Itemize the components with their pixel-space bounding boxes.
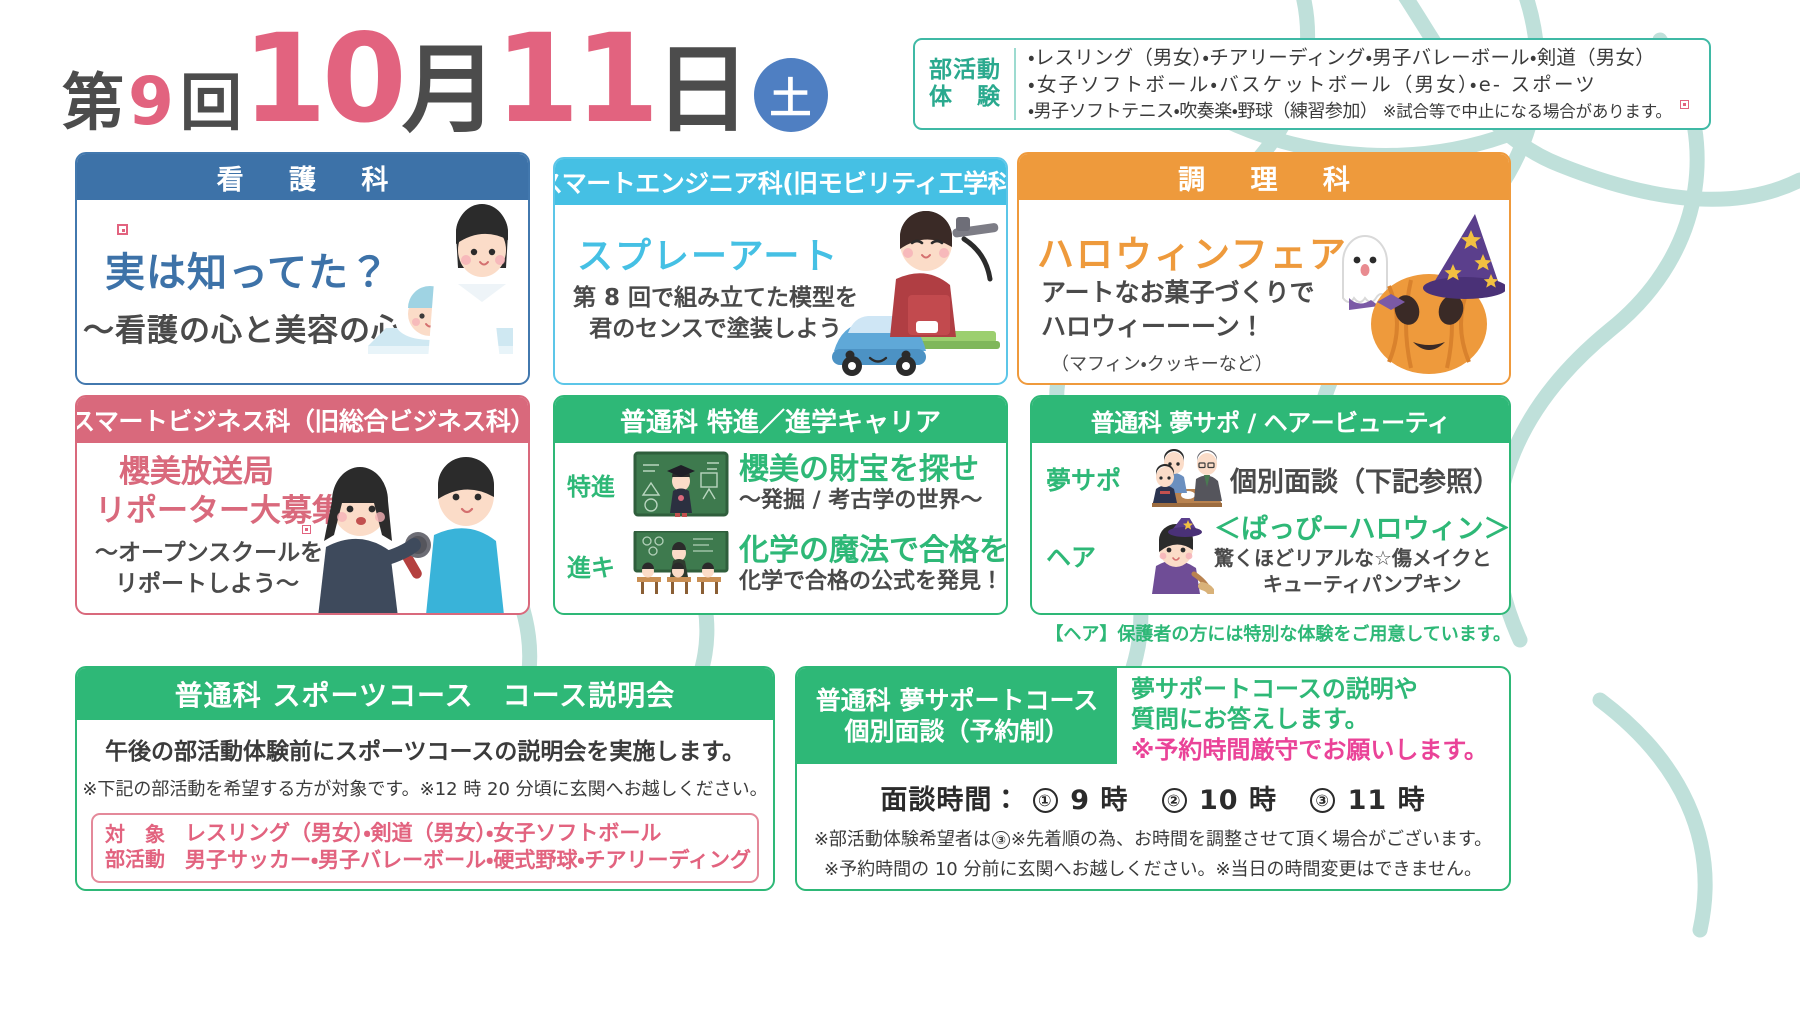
club-line-1: ・レスリング（男女）・チアリーディング・男子バレーボール・剣道（男女） — [1028, 44, 1689, 72]
header: 第 9 回 10 月 11 日 土 部活動 体 験 ・レスリング（男女）・チアリ… — [0, 0, 1800, 148]
card-smart-business-title: スマートビジネス科（旧総合ビジネス科） — [77, 397, 528, 443]
card-dream-hair-title: 普通科 夢サポ / ヘアービューティ — [1032, 397, 1509, 443]
event-day-number: 11 — [495, 18, 655, 140]
dream-row-1-tag: ヘア — [1046, 538, 1142, 574]
time-slot-3-value: 11 時 — [1348, 785, 1426, 816]
dream-intro-line1: 夢サポートコースの説明や — [1131, 674, 1509, 704]
card-dream-hair-body: 夢サポ — [1032, 443, 1509, 613]
dream-row-1-sub-line2: キューティパンプキン — [1214, 571, 1510, 597]
registered-mark-icon — [117, 224, 128, 235]
times-label: 面談時間： — [880, 785, 1020, 816]
card-smart-engineer[interactable]: スマートエンジニア科(旧モビリティ工学科) スプレーアート 第 8 回で組み立て… — [553, 157, 1008, 385]
dream-row-1-title: ＜ぱっぴーハロウィン＞ — [1214, 515, 1510, 545]
target-line1: レスリング（男女）・剣道（男女）・女子ソフトボール — [185, 820, 751, 847]
sports-target-box: 対 象 部活動 レスリング（男女）・剣道（男女）・女子ソフトボール 男子サッカー… — [91, 813, 759, 883]
dream-interview-header: 普通科 夢サポートコース 個別面談（予約制） 夢サポートコースの説明や 質問にお… — [797, 668, 1509, 764]
dream-row-yumesapo: 夢サポ — [1046, 449, 1500, 509]
card-cooking[interactable]: 調 理 科 ハロウィンフェア アートなお菓子づくりで ハロウィーーーン！ （マフ… — [1017, 152, 1511, 385]
month-unit: 月 — [402, 42, 495, 140]
card-nursing-body: 実は知ってた？ 〜看護の心と美容の心〜 — [77, 200, 528, 383]
interview-meeting-illustration — [1142, 449, 1230, 509]
dream-badge-line1: 普通科 夢サポートコース — [816, 685, 1098, 716]
dream-row-0-tag: 夢サポ — [1046, 461, 1142, 497]
cooking-desc-line1: アートなお菓子づくりで — [1041, 278, 1315, 307]
fine-line1-part-a: ※部活動体験希望者は — [814, 829, 991, 850]
card-nursing-title: 看 護 科 — [77, 154, 528, 200]
career-row-1-title: 化学の魔法で合格を錬成！ — [739, 534, 1008, 568]
sports-target-list: レスリング（男女）・剣道（男女）・女子ソフトボール 男子サッカー・男子バレーボー… — [185, 820, 751, 875]
dream-row-0-main: 個別面談（下記参照） — [1230, 460, 1500, 499]
dream-badge-line2: 個別面談（予約制） — [844, 716, 1069, 747]
club-line-3-text: ・男子ソフトテニス・吹奏楽・野球（練習参加） — [1028, 101, 1377, 122]
club-line-2: ・女子ソフトボール・バスケットボール（男女）・e- スポーツ — [1028, 71, 1689, 99]
career-row-1-sub: 化学で合格の公式を発見！ — [739, 568, 1008, 596]
career-row-0-sub: 〜発掘 / 考古学の世界〜 — [739, 487, 982, 515]
cooking-desc-line2: ハロウィーーーン！ — [1041, 310, 1315, 344]
target-line2: 男子サッカー・男子バレーボール・硬式野球・チアリーディング — [185, 847, 751, 874]
time-slot-3-circle: ③ — [1310, 788, 1335, 813]
dream-intro-line2: 質問にお答えします。 — [1131, 704, 1509, 734]
career-row-0-title: 櫻美の財宝を探せ — [739, 453, 982, 487]
registered-mark-icon — [1680, 100, 1689, 109]
dream-interview-box[interactable]: 普通科 夢サポートコース 個別面談（予約制） 夢サポートコースの説明や 質問にお… — [795, 666, 1511, 891]
edition-suffix: 回 — [180, 72, 242, 140]
club-activity-label: 部活動 体 験 — [929, 57, 1014, 111]
card-cooking-desc: アートなお菓子づくりで ハロウィーーーン！ — [1041, 276, 1315, 344]
card-cooking-headline: ハロウィンフェア — [1037, 224, 1348, 278]
dream-interview-fine-line1: ※部活動体験希望者は③※先着順の為、お時間を調整させて頂く場合がございます。 — [797, 825, 1509, 851]
career-row-tokushin: 特進 — [567, 451, 982, 517]
reporter-interview-illustration — [306, 443, 526, 615]
card-career-title: 普通科 特進／進学キャリア — [555, 397, 1006, 443]
fine-line1-part-b: ※先着順の為、お時間を調整させて頂く場合がございます。 — [1011, 829, 1492, 850]
dream-row-hair: ヘア ＜ぱっぴーハロウィン＞ — [1046, 515, 1510, 597]
card-cooking-body: ハロウィンフェア アートなお菓子づくりで ハロウィーーーン！ （マフィン・クッキ… — [1019, 200, 1509, 383]
sports-target-label: 対 象 部活動 — [105, 822, 175, 873]
club-activity-box: 部活動 体 験 ・レスリング（男女）・チアリーディング・男子バレーボール・剣道（… — [913, 38, 1711, 130]
dream-interview-fine-line2: ※予約時間の 10 分前に玄関へお越しください。※当日の時間変更はできません。 — [797, 855, 1509, 881]
nurse-and-baby-illustration — [338, 196, 528, 385]
card-cooking-title: 調 理 科 — [1019, 154, 1509, 200]
dream-row-1-sub-line1: 驚くほどリアルな☆傷メイクと — [1214, 545, 1510, 571]
card-career-body: 特進 — [555, 443, 1006, 613]
business-desc-line1: 〜オープンスクールを — [95, 540, 323, 566]
card-smart-engineer-body: スプレーアート 第 8 回で組み立てた模型を 君のセンスで塗装しよう — [555, 205, 1006, 383]
edition-number: 9 — [128, 69, 174, 140]
sports-course-line1: 午後の部活動体験前にスポーツコースの説明会を実施します。 — [77, 732, 773, 766]
target-label-line1: 対 象 — [105, 822, 165, 848]
day-of-week-badge: 土 — [754, 58, 828, 132]
club-label-line2: 体 験 — [929, 84, 1001, 111]
card-smart-business[interactable]: スマートビジネス科（旧総合ビジネス科） 櫻美放送局 リポーター大募集 〜オープン… — [75, 395, 530, 615]
club-label-line1: 部活動 — [929, 57, 1001, 84]
sports-course-title: 普通科 スポーツコース コース説明会 — [77, 668, 773, 720]
sports-course-box[interactable]: 普通科 スポーツコース コース説明会 午後の部活動体験前にスポーツコースの説明会… — [75, 666, 775, 891]
flyer-page: 第 9 回 10 月 11 日 土 部活動 体 験 ・レスリング（男女）・チアリ… — [0, 0, 1800, 1035]
pumpkin-ghost-illustration — [1325, 206, 1505, 381]
dream-row-1-text: ＜ぱっぴーハロウィン＞ 驚くほどリアルな☆傷メイクと キューティパンプキン — [1214, 515, 1510, 597]
card-dream-hair[interactable]: 普通科 夢サポ / ヘアービューティ 夢サポ — [1030, 395, 1511, 615]
card-career[interactable]: 普通科 特進／進学キャリア 特進 — [553, 395, 1008, 615]
card-smart-engineer-title: スマートエンジニア科(旧モビリティ工学科) — [555, 159, 1006, 205]
time-slot-2-circle: ② — [1162, 788, 1187, 813]
blackboard-graduate-illustration — [633, 451, 729, 517]
career-row-1-text: 化学の魔法で合格を錬成！ 化学で合格の公式を発見！ — [739, 534, 1008, 595]
card-smart-business-desc: 〜オープンスクールを リポートしよう〜 — [95, 538, 323, 600]
dream-interview-badge: 普通科 夢サポートコース 個別面談（予約制） — [797, 668, 1117, 764]
time-slot-2-value: 10 時 — [1199, 785, 1277, 816]
dream-hair-note: 【ヘア】保護者の方には特別な体験をご用意しています。 — [1030, 620, 1511, 646]
business-headline-line1: 櫻美放送局 — [119, 454, 274, 490]
cooking-desc-line3: （マフィン・クッキーなど） — [1051, 350, 1273, 376]
divider — [1014, 48, 1016, 120]
career-row-0-tag: 特進 — [567, 467, 633, 502]
card-nursing[interactable]: 看 護 科 実は知ってた？ 〜看護の心と美容の心〜 — [75, 152, 530, 385]
time-slot-1-value: 9 時 — [1070, 785, 1128, 816]
club-line-3: ・男子ソフトテニス・吹奏楽・野球（練習参加） ※試合等で中止になる場合があります… — [1028, 99, 1689, 125]
airbrush-student-and-car-illustration — [804, 203, 1004, 385]
classroom-chemistry-illustration — [633, 531, 729, 599]
fine-line1-circle: ③ — [992, 831, 1010, 849]
edition-prefix: 第 — [62, 72, 122, 140]
business-desc-line2: リポートしよう〜 — [115, 569, 323, 600]
dream-interview-times: 面談時間： ① 9 時 ② 10 時 ③ 11 時 — [797, 778, 1509, 817]
time-slot-1-circle: ① — [1033, 788, 1058, 813]
card-smart-engineer-headline: スプレーアート — [577, 227, 839, 279]
card-smart-business-body: 櫻美放送局 リポーター大募集 〜オープンスクールを リポートしよう〜 — [77, 443, 528, 613]
career-row-1-tag: 進キ — [567, 548, 633, 583]
event-month-number: 10 — [242, 18, 402, 140]
club-line-3-note: ※試合等で中止になる場合があります。 — [1383, 102, 1672, 121]
dream-interview-intro: 夢サポートコースの説明や 質問にお答えします。 ※予約時間厳守でお願いします。 — [1117, 668, 1509, 764]
witch-girl-illustration — [1142, 518, 1214, 594]
day-unit: 日 — [655, 42, 748, 140]
target-label-line2: 部活動 — [105, 847, 165, 873]
club-activity-list: ・レスリング（男女）・チアリーディング・男子バレーボール・剣道（男女） ・女子ソ… — [1028, 44, 1689, 125]
dream-intro-line3: ※予約時間厳守でお願いします。 — [1131, 735, 1509, 766]
sports-course-line2: ※下記の部活動を希望する方が対象です。※12 時 20 分頃に玄関へお越しくださ… — [77, 775, 773, 801]
event-date: 第 9 回 10 月 11 日 土 — [62, 18, 828, 140]
career-row-shinkyari: 進キ — [567, 531, 1008, 599]
career-row-0-text: 櫻美の財宝を探せ 〜発掘 / 考古学の世界〜 — [739, 453, 982, 514]
